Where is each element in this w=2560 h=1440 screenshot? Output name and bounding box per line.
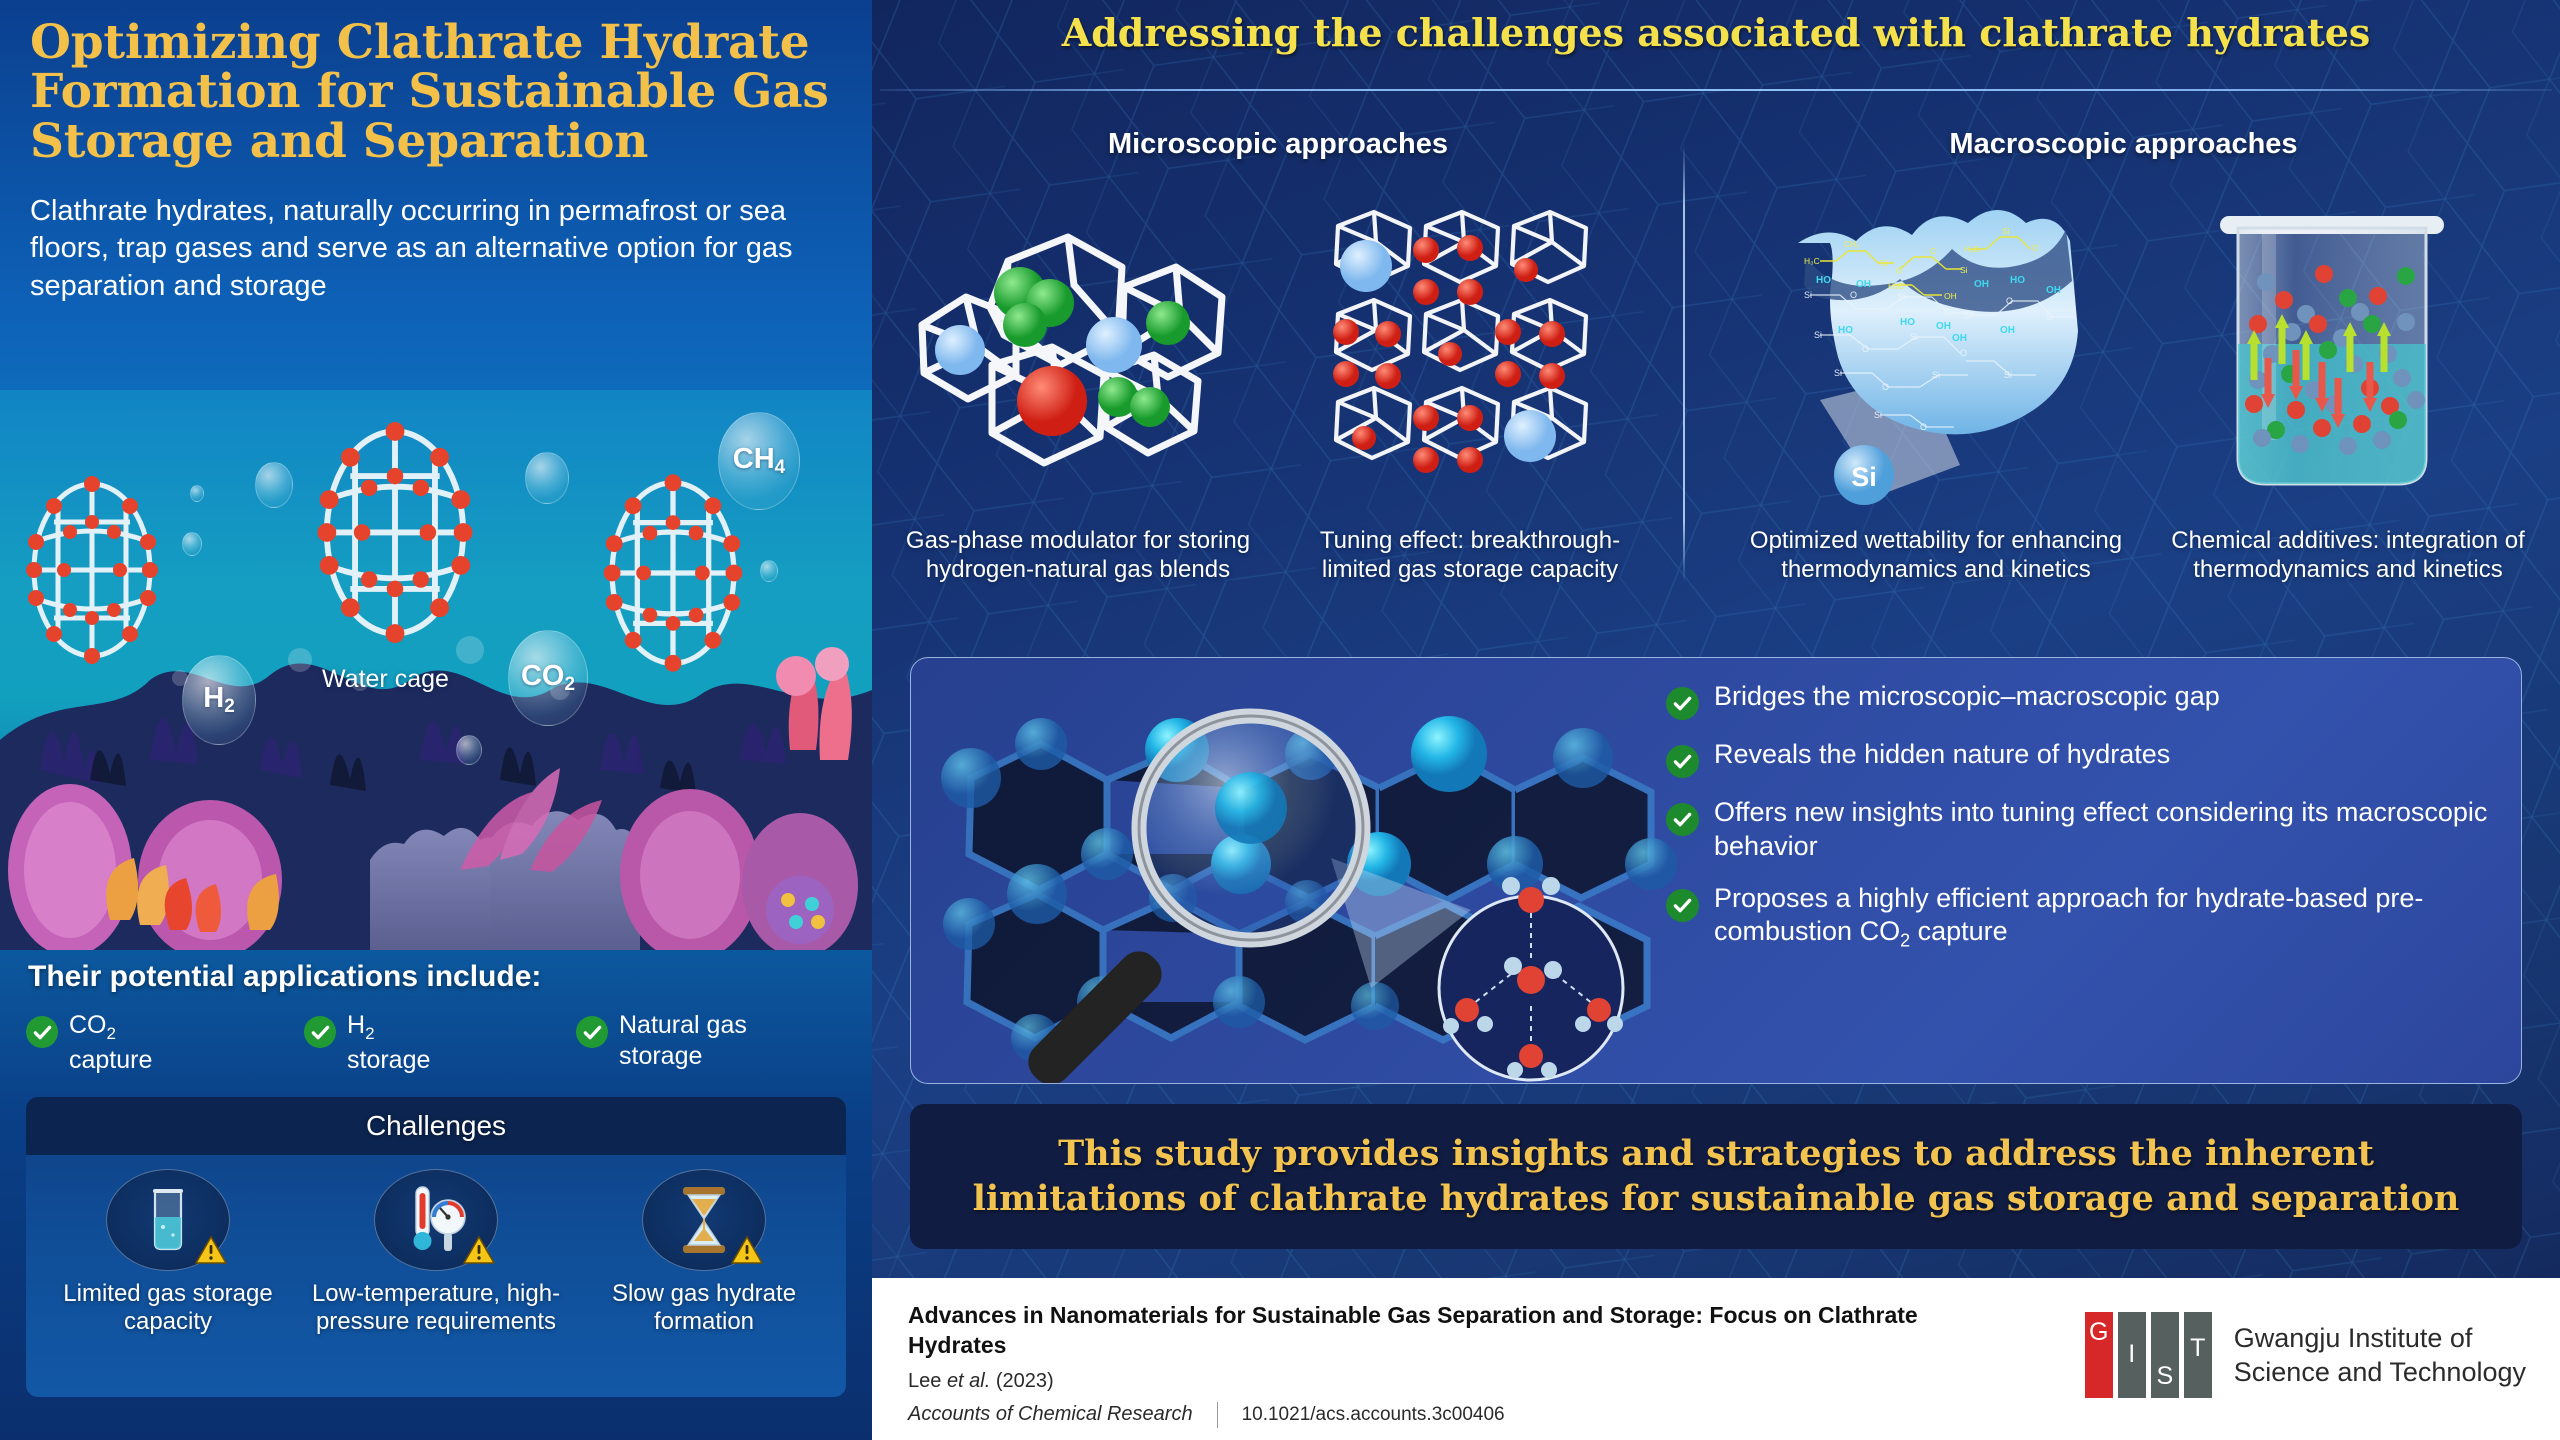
svg-text:Si: Si bbox=[1898, 292, 1906, 302]
check-icon bbox=[1666, 745, 1699, 778]
bubble-h2-label: H2 bbox=[203, 682, 235, 718]
gist-logo-line1: Gwangju Institute of bbox=[2234, 1321, 2526, 1355]
magnifier-molecules-illustration bbox=[911, 658, 1691, 1084]
article-title: Advances in Nanomaterials for Sustainabl… bbox=[908, 1300, 2008, 1361]
warning-icon bbox=[462, 1235, 496, 1265]
svg-text:Si: Si bbox=[1880, 258, 1888, 268]
bubble-co2: CO2 bbox=[508, 630, 588, 726]
section-title-microscopic: Microscopic approaches bbox=[872, 128, 1684, 161]
illustration-tuning-effect bbox=[1290, 178, 1630, 523]
finding-item-tuning-insights: Offers new insights into tuning effect c… bbox=[1666, 796, 2506, 864]
logo-bar-g: G bbox=[2085, 1312, 2113, 1398]
challenge-item-low-temp-high-pressure: Low-temperature, high-pressure requireme… bbox=[302, 1169, 570, 1336]
svg-text:O: O bbox=[1920, 422, 1927, 432]
svg-text:H₃C: H₃C bbox=[1964, 244, 1980, 254]
svg-text:OH: OH bbox=[1856, 279, 1871, 290]
svg-text:Si: Si bbox=[1814, 330, 1822, 340]
svg-text:CH₃: CH₃ bbox=[1844, 239, 1860, 249]
svg-text:Si: Si bbox=[1874, 410, 1882, 420]
citation-divider bbox=[1217, 1402, 1218, 1428]
application-label: Natural gas storage bbox=[619, 1010, 747, 1071]
svg-text:Si: Si bbox=[1932, 370, 1940, 380]
conclusion-banner: This study provides insights and strateg… bbox=[910, 1104, 2522, 1249]
svg-text:Si: Si bbox=[1804, 290, 1812, 300]
challenge-item-limited-capacity: Limited gas storage capacity bbox=[34, 1169, 302, 1336]
page-title: Optimizing Clathrate Hydrate Formation f… bbox=[30, 18, 850, 166]
gist-logo-line2: Science and Technology bbox=[2234, 1355, 2526, 1389]
right-panel: Addressing the challenges associated wit… bbox=[872, 0, 2560, 1278]
svg-text:O: O bbox=[1850, 290, 1857, 300]
check-icon bbox=[1666, 803, 1699, 836]
water-cage-illustration-1 bbox=[12, 470, 172, 670]
hourglass-icon bbox=[675, 1183, 733, 1257]
svg-text:Si: Si bbox=[2046, 312, 2054, 322]
svg-text:OH: OH bbox=[1974, 279, 1989, 290]
bubble-decor bbox=[456, 735, 482, 765]
illustration-optimized-wettability: SiOSiO SiOSiO SiOSi SiOSi SiSiO HOOHHOOH… bbox=[1760, 165, 2160, 525]
caption-gas-phase-modulator: Gas-phase modulator for storing hydrogen… bbox=[878, 526, 1278, 585]
challenges-card: Challenges bbox=[26, 1097, 846, 1397]
svg-text:OH: OH bbox=[1952, 333, 1967, 344]
check-icon bbox=[26, 1016, 58, 1048]
right-panel-heading: Addressing the challenges associated wit… bbox=[872, 10, 2560, 55]
key-findings-list: Bridges the microscopic–macroscopic gap … bbox=[1666, 680, 2506, 970]
finding-label: Offers new insights into tuning effect c… bbox=[1714, 796, 2506, 864]
svg-text:OH: OH bbox=[1944, 291, 1957, 301]
challenge-label: Low-temperature, high-pressure requireme… bbox=[302, 1280, 570, 1336]
citation-block: Advances in Nanomaterials for Sustainabl… bbox=[908, 1300, 2008, 1428]
svg-text:HO: HO bbox=[1816, 275, 1831, 286]
water-cage-illustration-3 bbox=[588, 468, 758, 678]
caption-chemical-additives: Chemical additives: integration of therm… bbox=[2142, 526, 2554, 585]
page-subtitle: Clathrate hydrates, naturally occurring … bbox=[30, 193, 850, 305]
bubble-decor bbox=[525, 452, 569, 504]
finding-label: Proposes a highly efficient approach for… bbox=[1714, 882, 2506, 953]
water-cage-label: Water cage bbox=[322, 665, 449, 694]
svg-text:Si: Si bbox=[1910, 332, 1918, 342]
svg-text:OH: OH bbox=[2046, 285, 2061, 296]
bubble-decor bbox=[760, 560, 778, 582]
application-label: CO2 capture bbox=[69, 1010, 152, 1075]
finding-item-precombustion-capture: Proposes a highly efficient approach for… bbox=[1666, 882, 2506, 953]
doi-text[interactable]: 10.1021/acs.accounts.3c00406 bbox=[1242, 1404, 1505, 1426]
svg-text:C: C bbox=[1930, 246, 1936, 256]
gist-logo-mark: G I S T bbox=[2085, 1312, 2212, 1398]
title-block: Optimizing Clathrate Hydrate Formation f… bbox=[30, 18, 850, 305]
check-icon bbox=[1666, 687, 1699, 720]
key-findings-box: Bridges the microscopic–macroscopic gap … bbox=[910, 657, 2522, 1084]
caption-tuning-effect: Tuning effect: breakthrough-limited gas … bbox=[1290, 526, 1650, 585]
article-authors: Lee et al. (2023) bbox=[908, 1370, 2008, 1393]
application-item-natural-gas-storage: Natural gas storage bbox=[576, 1010, 856, 1075]
svg-text:H₃C: H₃C bbox=[1804, 256, 1820, 266]
svg-text:O: O bbox=[1896, 265, 1903, 275]
svg-text:Si: Si bbox=[2002, 226, 2010, 236]
svg-text:O: O bbox=[1960, 348, 1967, 358]
challenge-label: Limited gas storage capacity bbox=[34, 1280, 302, 1336]
section-divider bbox=[1683, 145, 1685, 582]
applications-list: CO2 capture H2 storage Natural gas bbox=[26, 1010, 856, 1075]
illustration-chemical-additives bbox=[2192, 172, 2472, 525]
application-label: H2 storage bbox=[347, 1010, 430, 1075]
bubble-decor bbox=[255, 462, 293, 508]
bubble-decor bbox=[190, 485, 204, 502]
illustration-gas-phase-modulator bbox=[892, 175, 1252, 525]
svg-text:OH: OH bbox=[1936, 321, 1951, 332]
check-icon bbox=[576, 1016, 608, 1048]
svg-text:O: O bbox=[2006, 296, 2013, 306]
applications-heading: Their potential applications include: bbox=[28, 960, 541, 994]
infographic-poster: H2 CO2 CH4 Water cage Optimizing Clathra… bbox=[0, 0, 2560, 1440]
conclusion-text: This study provides insights and strateg… bbox=[950, 1132, 2482, 1222]
svg-text:O: O bbox=[2032, 243, 2039, 253]
logo-bar-t: T bbox=[2184, 1312, 2212, 1398]
gist-logo: G I S T Gwangju Institute of Science and… bbox=[2085, 1312, 2526, 1398]
header-divider bbox=[880, 89, 2552, 91]
svg-text:Si: Si bbox=[1960, 265, 1968, 275]
logo-bar-i: I bbox=[2118, 1312, 2146, 1398]
bubble-h2: H2 bbox=[182, 655, 256, 745]
check-icon bbox=[1666, 889, 1699, 922]
finding-label: Reveals the hidden nature of hydrates bbox=[1714, 738, 2170, 772]
gist-logo-text: Gwangju Institute of Science and Technol… bbox=[2234, 1321, 2526, 1389]
warning-icon bbox=[194, 1235, 228, 1265]
svg-text:HO: HO bbox=[1900, 317, 1915, 328]
svg-text:OH: OH bbox=[2000, 325, 2015, 336]
bubble-ch4-label: CH4 bbox=[733, 443, 785, 479]
check-icon bbox=[304, 1016, 336, 1048]
svg-text:Si: Si bbox=[1964, 310, 1972, 320]
finding-label: Bridges the microscopic–macroscopic gap bbox=[1714, 680, 2220, 714]
svg-text:Si: Si bbox=[1834, 368, 1842, 378]
bubble-decor bbox=[182, 532, 202, 556]
section-title-macroscopic: Macroscopic approaches bbox=[1687, 128, 2560, 161]
si-badge-label: Si bbox=[1851, 462, 1877, 492]
journal-name: Accounts of Chemical Research bbox=[908, 1403, 1193, 1426]
caption-optimized-wettability: Optimized wettability for enhancing ther… bbox=[1730, 526, 2142, 585]
svg-text:O: O bbox=[1882, 382, 1889, 392]
application-item-co2-capture: CO2 capture bbox=[26, 1010, 304, 1075]
challenges-list: Limited gas storage capacity bbox=[26, 1155, 846, 1336]
svg-text:HO: HO bbox=[1838, 325, 1853, 336]
finding-item-hidden-nature: Reveals the hidden nature of hydrates bbox=[1666, 738, 2506, 778]
challenge-item-slow-formation: Slow gas hydrate formation bbox=[570, 1169, 838, 1336]
application-item-h2-storage: H2 storage bbox=[304, 1010, 576, 1075]
svg-text:O: O bbox=[1944, 308, 1951, 318]
left-panel: H2 CO2 CH4 Water cage Optimizing Clathra… bbox=[0, 0, 872, 1440]
water-cage-illustration-2 bbox=[300, 415, 490, 650]
svg-text:Si: Si bbox=[2004, 370, 2012, 380]
svg-text:O: O bbox=[1862, 344, 1869, 354]
logo-bar-s: S bbox=[2151, 1312, 2179, 1398]
footer: Advances in Nanomaterials for Sustainabl… bbox=[872, 1278, 2560, 1440]
warning-icon bbox=[730, 1235, 764, 1265]
beaker-icon bbox=[137, 1183, 199, 1257]
bubble-ch4: CH4 bbox=[718, 412, 800, 510]
challenge-label: Slow gas hydrate formation bbox=[570, 1280, 838, 1336]
finding-item-bridges-gap: Bridges the microscopic–macroscopic gap bbox=[1666, 680, 2506, 720]
svg-text:HO: HO bbox=[2010, 275, 2025, 286]
challenges-heading: Challenges bbox=[26, 1097, 846, 1155]
svg-text:H₃C: H₃C bbox=[1888, 281, 1904, 291]
bubble-co2-label: CO2 bbox=[521, 660, 575, 696]
